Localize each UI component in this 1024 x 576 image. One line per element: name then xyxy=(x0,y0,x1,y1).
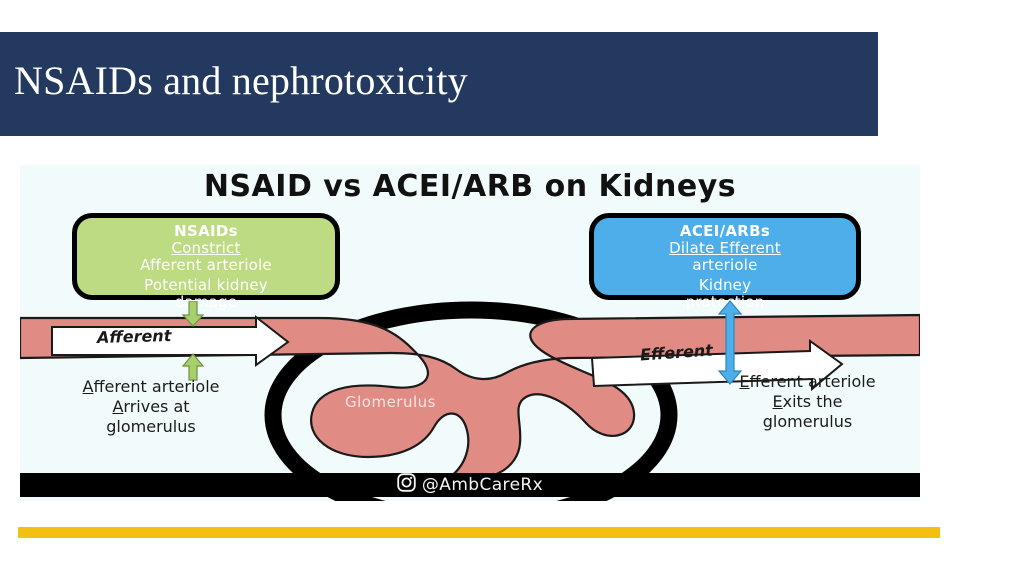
nsaids-box-line-3: Potential kidney xyxy=(77,277,335,294)
efferent-caption-rest-2: xits the xyxy=(783,392,843,411)
acei-box-heading: ACEI/ARBs xyxy=(594,222,856,240)
efferent-caption-rest-1: fferent arteriole xyxy=(750,372,876,391)
nsaids-box-line-4: damage xyxy=(77,294,335,311)
acei-arbs-info-box: ACEI/ARBs Dilate Efferent arteriole Kidn… xyxy=(589,213,861,300)
glomerulus-label: Glomerulus xyxy=(345,393,436,411)
afferent-caption-rest-2: rrives at xyxy=(123,397,189,416)
afferent-caption: Afferent arteriole Arrives at glomerulus xyxy=(26,377,276,437)
slide-header-bar: NSAIDs and nephrotoxicity xyxy=(0,32,878,136)
afferent-caption-rest-1: fferent arteriole xyxy=(93,377,219,396)
nsaids-box-line-2: Afferent arteriole xyxy=(77,257,335,274)
instagram-icon xyxy=(397,473,416,497)
bottom-accent-rule xyxy=(18,527,940,538)
afferent-flow-label: Afferent xyxy=(97,326,172,347)
afferent-caption-line-2: Arrives at xyxy=(26,397,276,417)
efferent-caption-underline-1: E xyxy=(739,372,749,391)
efferent-caption-line-3: glomerulus xyxy=(675,412,920,432)
afferent-caption-line-1: Afferent arteriole xyxy=(26,377,276,397)
acei-box-line-1: Dilate Efferent xyxy=(594,240,856,257)
nsaids-info-box: NSAIDs Constrict Afferent arteriole Pote… xyxy=(72,213,340,300)
page-title: NSAIDs and nephrotoxicity xyxy=(14,58,468,104)
social-handle-text: @AmbCareRx xyxy=(422,475,543,495)
nsaids-box-line-1: Constrict xyxy=(77,240,335,257)
afferent-caption-underline-1: A xyxy=(83,377,94,396)
nsaids-box-heading: NSAIDs xyxy=(77,222,335,240)
efferent-caption: Efferent arteriole Exits the glomerulus xyxy=(675,372,920,432)
acei-box-line-2: arteriole xyxy=(594,257,856,274)
social-handle-bar: @AmbCareRx xyxy=(20,473,920,497)
efferent-caption-line-2: Exits the xyxy=(675,392,920,412)
constrict-arrow-down-icon xyxy=(182,301,204,327)
afferent-caption-underline-2: A xyxy=(112,397,123,416)
efferent-caption-line-1: Efferent arteriole xyxy=(675,372,920,392)
kidney-diagram: NSAID vs ACEI/ARB on Kidneys Afferent Ef… xyxy=(20,165,920,501)
afferent-caption-line-3: glomerulus xyxy=(26,417,276,437)
acei-box-line-3: Kidney xyxy=(594,277,856,294)
efferent-caption-underline-2: E xyxy=(773,392,783,411)
